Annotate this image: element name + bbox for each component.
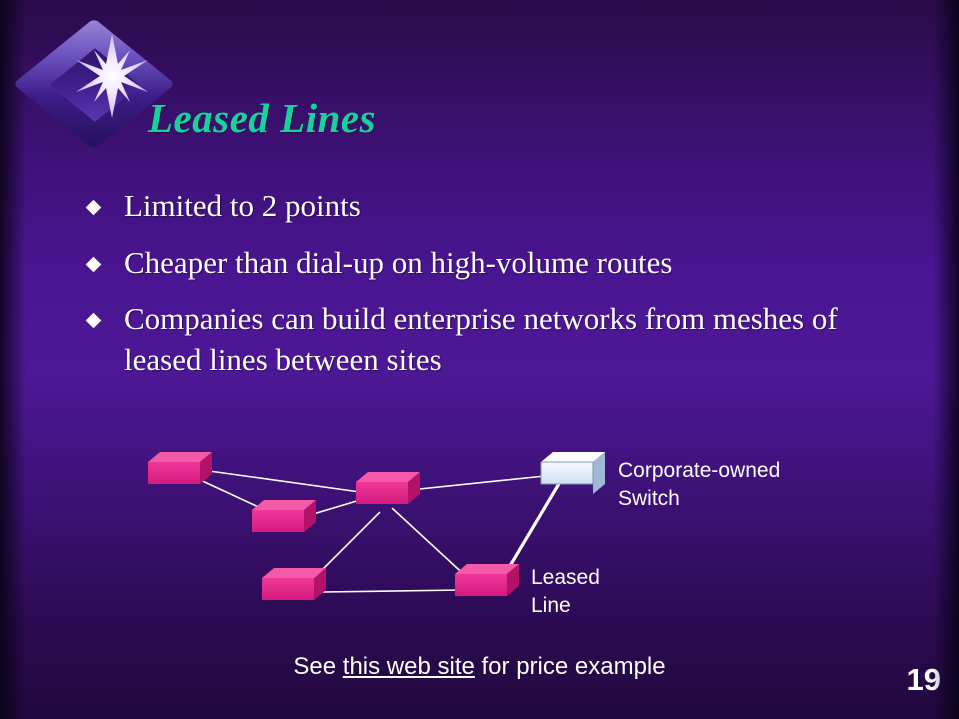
- link-topleft-center: [202, 470, 360, 492]
- footer-suffix: for price example: [475, 653, 666, 680]
- bullet-marker-icon: [86, 256, 102, 272]
- label-corporate-switch: Corporate-owned Switch: [618, 457, 780, 514]
- footer-prefix: See: [293, 653, 342, 680]
- bullet-list: Limited to 2 points Cheaper than dial-up…: [82, 186, 892, 396]
- label-leased-line: Leased Line: [531, 564, 600, 621]
- web-site-link[interactable]: this web site: [343, 653, 475, 680]
- bullet-marker-icon: [86, 313, 102, 329]
- bullet-text: Limited to 2 points: [124, 188, 361, 223]
- node-bottom-left: [262, 568, 326, 600]
- bullet-item-3: Companies can build enterprise networks …: [82, 299, 892, 380]
- starburst-icon: [70, 34, 154, 118]
- link-center-switch: [410, 476, 545, 490]
- slide-title: Leased Lines: [148, 94, 376, 142]
- network-diagram-svg: [0, 420, 959, 650]
- network-diagram: Corporate-owned Switch Leased Line: [0, 420, 959, 650]
- bullet-marker-icon: [86, 200, 102, 216]
- bullet-item-1: Limited to 2 points: [82, 186, 892, 227]
- node-top-left: [148, 452, 212, 484]
- link-bottomleft-bottomright: [322, 590, 462, 592]
- node-mid-left: [252, 500, 316, 532]
- node-bottom-right: [455, 564, 519, 596]
- slide-canvas: Leased Lines Limited to 2 points Cheaper…: [0, 0, 959, 719]
- page-number: 19: [907, 662, 941, 698]
- bullet-text: Companies can build enterprise networks …: [124, 301, 838, 377]
- footer-note: See this web site for price example: [0, 653, 959, 681]
- link-leased-line: [504, 482, 560, 576]
- link-center-bottomright: [392, 508, 470, 580]
- node-center: [356, 472, 420, 504]
- bullet-text: Cheaper than dial-up on high-volume rout…: [124, 245, 672, 280]
- bullet-item-2: Cheaper than dial-up on high-volume rout…: [82, 243, 892, 284]
- node-corporate-switch: [541, 452, 605, 494]
